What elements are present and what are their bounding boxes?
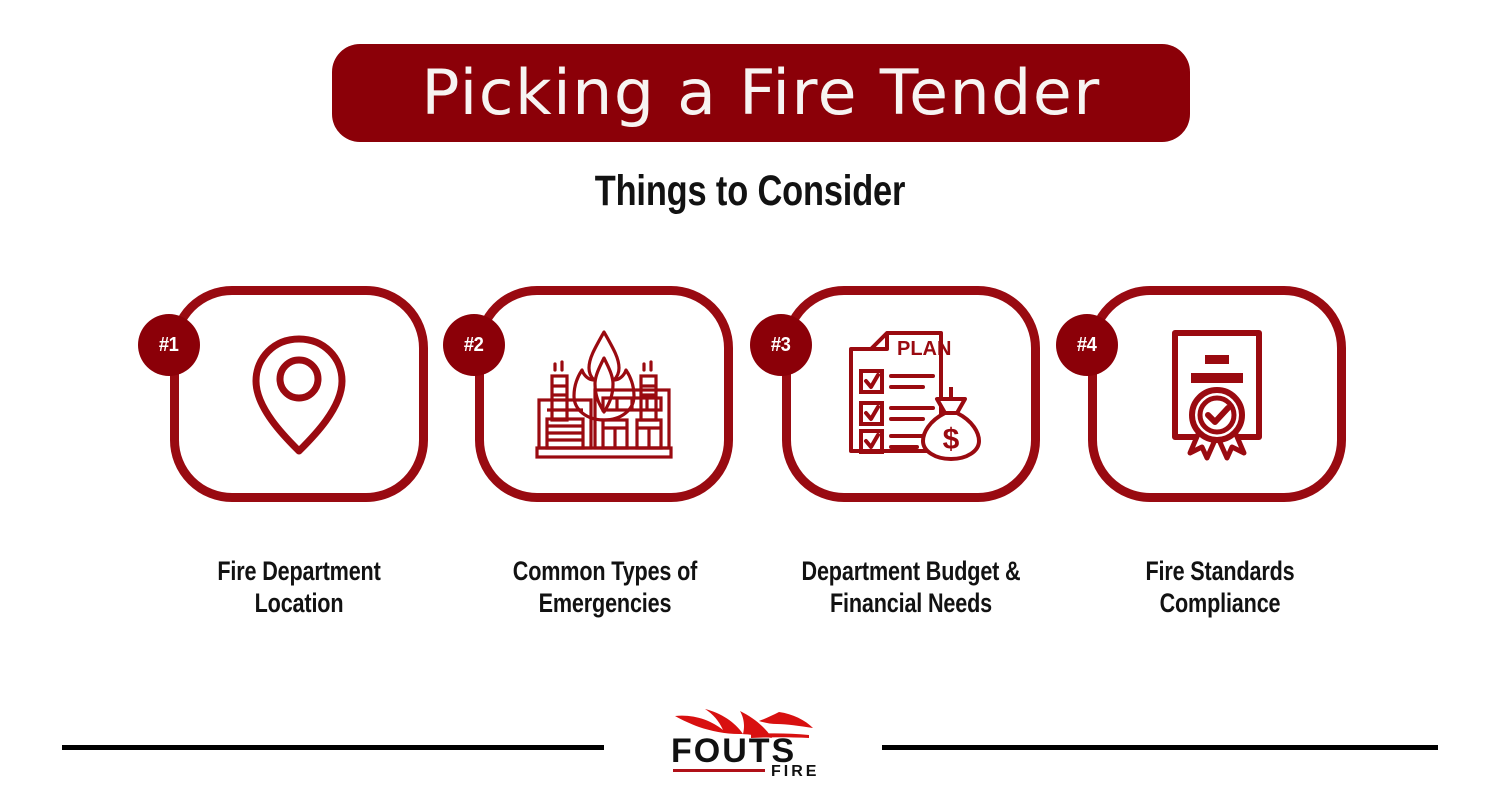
fouts-fire-logo: FOUTS FIRE [659, 700, 841, 780]
factory-fire-icon [475, 286, 733, 502]
footer-divider-right [882, 745, 1438, 750]
footer-divider-left [62, 745, 604, 750]
logo-subtext: FIRE [771, 763, 819, 780]
currency-label: $ [943, 423, 960, 456]
infographic-canvas: Picking a Fire Tender Things to Consider… [0, 0, 1500, 800]
cards-row: #1 [0, 286, 1500, 516]
page-subtitle: Things to Consider [150, 168, 1350, 215]
badge-2: #2 [443, 314, 505, 376]
card-1: #1 [170, 286, 428, 502]
badge-3: #3 [750, 314, 812, 376]
certificate-award-icon [1088, 286, 1346, 502]
caption-line-1: Fire Standards [1100, 556, 1340, 588]
caption-line-2: Financial Needs [791, 588, 1031, 620]
badge-label: #1 [159, 335, 179, 355]
page-title: Picking a Fire Tender [421, 62, 1100, 124]
captions-row: Fire Department Location Common Types of… [0, 556, 1500, 646]
caption-line-2: Location [179, 588, 419, 620]
caption-2: Common Types of Emergencies [485, 556, 725, 620]
logo-accent-line [673, 769, 765, 772]
badge-4: #4 [1056, 314, 1118, 376]
plan-label: PLAN [897, 338, 951, 360]
title-banner: Picking a Fire Tender [332, 44, 1190, 142]
caption-line-2: Compliance [1100, 588, 1340, 620]
badge-label: #3 [771, 335, 791, 355]
badge-label: #2 [464, 335, 484, 355]
caption-3: Department Budget & Financial Needs [791, 556, 1031, 620]
map-pin-icon [170, 286, 428, 502]
plan-checklist-money-bag-icon: PLAN [782, 286, 1040, 502]
caption-line-1: Common Types of [485, 556, 725, 588]
caption-4: Fire Standards Compliance [1100, 556, 1340, 620]
caption-line-1: Fire Department [179, 556, 419, 588]
caption-1: Fire Department Location [179, 556, 419, 620]
card-2: #2 [475, 286, 733, 502]
badge-1: #1 [138, 314, 200, 376]
badge-label: #4 [1077, 335, 1097, 355]
caption-line-1: Department Budget & [791, 556, 1031, 588]
card-4: #4 [1088, 286, 1346, 502]
card-3: PLAN [782, 286, 1040, 502]
caption-line-2: Emergencies [485, 588, 725, 620]
